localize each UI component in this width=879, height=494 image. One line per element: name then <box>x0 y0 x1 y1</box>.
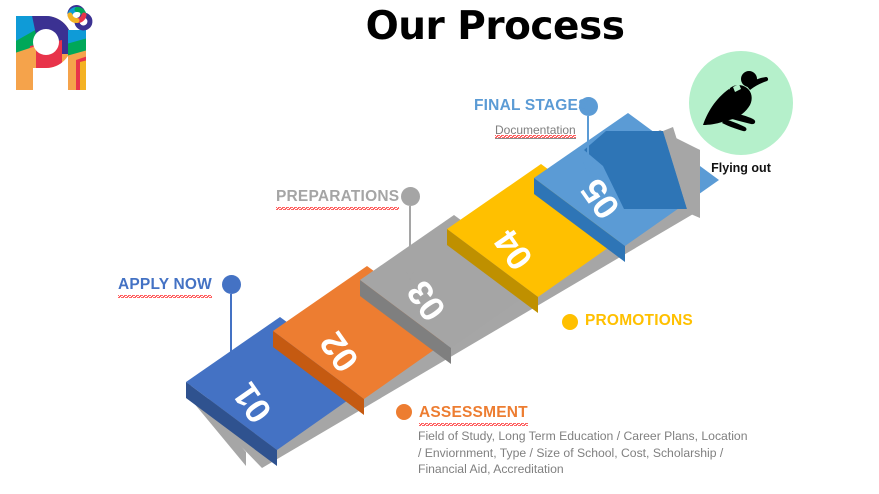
callout-apply-now-label: APPLY NOW <box>118 276 212 298</box>
callout-preparations-label: PREPARATIONS <box>276 188 399 210</box>
callout-preparations[interactable]: PREPARATIONS <box>276 188 399 210</box>
assessment-description: Field of Study, Long Term Education / Ca… <box>418 428 748 478</box>
bullet-dot-assessment <box>396 404 412 420</box>
slide-canvas: Our Process 01 02 03 <box>0 0 879 494</box>
flying-out-badge[interactable] <box>689 51 793 155</box>
callout-final-stages[interactable]: FINAL STAGES <box>474 97 589 115</box>
connector-apply <box>226 294 236 368</box>
callout-assessment[interactable]: ASSESSMENT <box>419 404 528 426</box>
callout-final-stages-label: FINAL STAGES <box>474 97 589 115</box>
callout-apply-now[interactable]: APPLY NOW <box>118 276 212 298</box>
assessment-line-1: Field of Study, Long Term Education / Ca… <box>418 428 748 445</box>
bullet-dot-promotions <box>562 314 578 330</box>
flying-superhero-icon <box>689 51 793 155</box>
callout-promotions-label: PROMOTIONS <box>585 312 693 330</box>
callout-documentation: Documentation <box>495 123 576 137</box>
bullet-dot-apply <box>222 275 241 294</box>
bullet-dot-preparations <box>401 187 420 206</box>
assessment-line-3: Financial Aid, Accreditation <box>418 461 748 478</box>
callout-assessment-label: ASSESSMENT <box>419 404 528 426</box>
assessment-line-2: / Enviornment, Type / Size of School, Co… <box>418 445 748 462</box>
callout-documentation-label: Documentation <box>495 123 576 139</box>
callout-promotions[interactable]: PROMOTIONS <box>585 312 693 330</box>
flying-out-caption: Flying out <box>670 161 812 175</box>
connector-preparations <box>405 206 415 280</box>
